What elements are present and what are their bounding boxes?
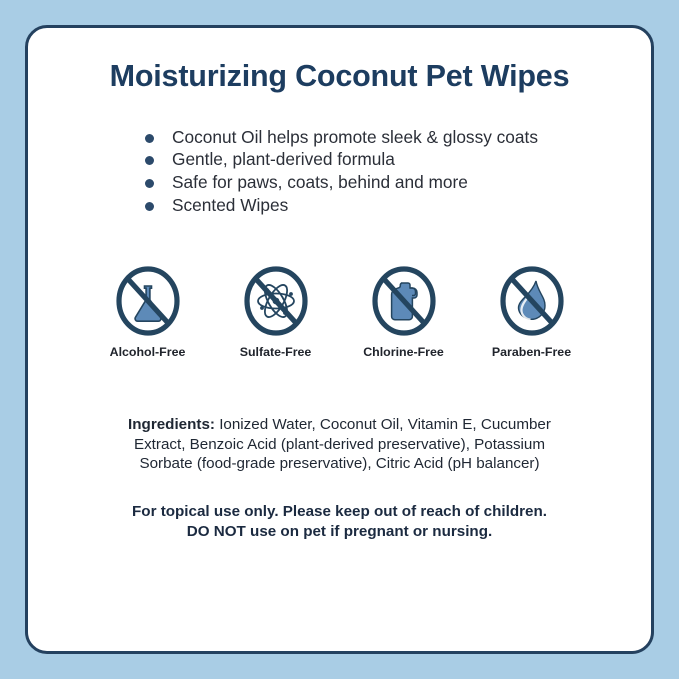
list-item: Safe for paws, coats, behind and more	[145, 171, 651, 194]
badge-label: Alcohol-Free	[102, 345, 194, 359]
bullet-dot-icon	[145, 156, 154, 165]
list-item: Gentle, plant-derived formula	[145, 148, 651, 171]
ingredients-text: Ingredients: Ionized Water, Coconut Oil,…	[106, 415, 573, 474]
list-item-label: Safe for paws, coats, behind and more	[172, 172, 468, 192]
bullet-dot-icon	[145, 179, 154, 188]
jug-icon	[370, 264, 438, 338]
badge-label: Sulfate-Free	[230, 345, 322, 359]
badge-paraben-free: Paraben-Free	[486, 264, 578, 359]
info-card: Moisturizing Coconut Pet Wipes Coconut O…	[25, 25, 654, 654]
list-item-label: Gentle, plant-derived formula	[172, 149, 395, 169]
droplet-icon	[498, 264, 566, 338]
badge-label: Chlorine-Free	[358, 345, 450, 359]
list-item-label: Coconut Oil helps promote sleek & glossy…	[172, 127, 538, 147]
flask-icon	[114, 264, 182, 338]
badge-sulfate-free: Sulfate-Free	[230, 264, 322, 359]
warning-line-2: DO NOT use on pet if pregnant or nursing…	[76, 522, 603, 542]
page-title: Moisturizing Coconut Pet Wipes	[28, 28, 651, 94]
badge-alcohol-free: Alcohol-Free	[102, 264, 194, 359]
warning-text: For topical use only. Please keep out of…	[76, 502, 603, 542]
bullet-dot-icon	[145, 134, 154, 143]
atom-icon	[242, 264, 310, 338]
free-from-badges: Alcohol-Free	[28, 264, 651, 359]
badge-label: Paraben-Free	[486, 345, 578, 359]
badge-chlorine-free: Chlorine-Free	[358, 264, 450, 359]
warning-line-1: For topical use only. Please keep out of…	[76, 502, 603, 522]
feature-list: Coconut Oil helps promote sleek & glossy…	[28, 126, 651, 217]
bullet-dot-icon	[145, 202, 154, 211]
list-item: Scented Wipes	[145, 194, 651, 217]
product-info-graphic: Moisturizing Coconut Pet Wipes Coconut O…	[0, 0, 679, 679]
list-item-label: Scented Wipes	[172, 195, 288, 215]
ingredients-label: Ingredients:	[128, 416, 215, 433]
list-item: Coconut Oil helps promote sleek & glossy…	[145, 126, 651, 149]
